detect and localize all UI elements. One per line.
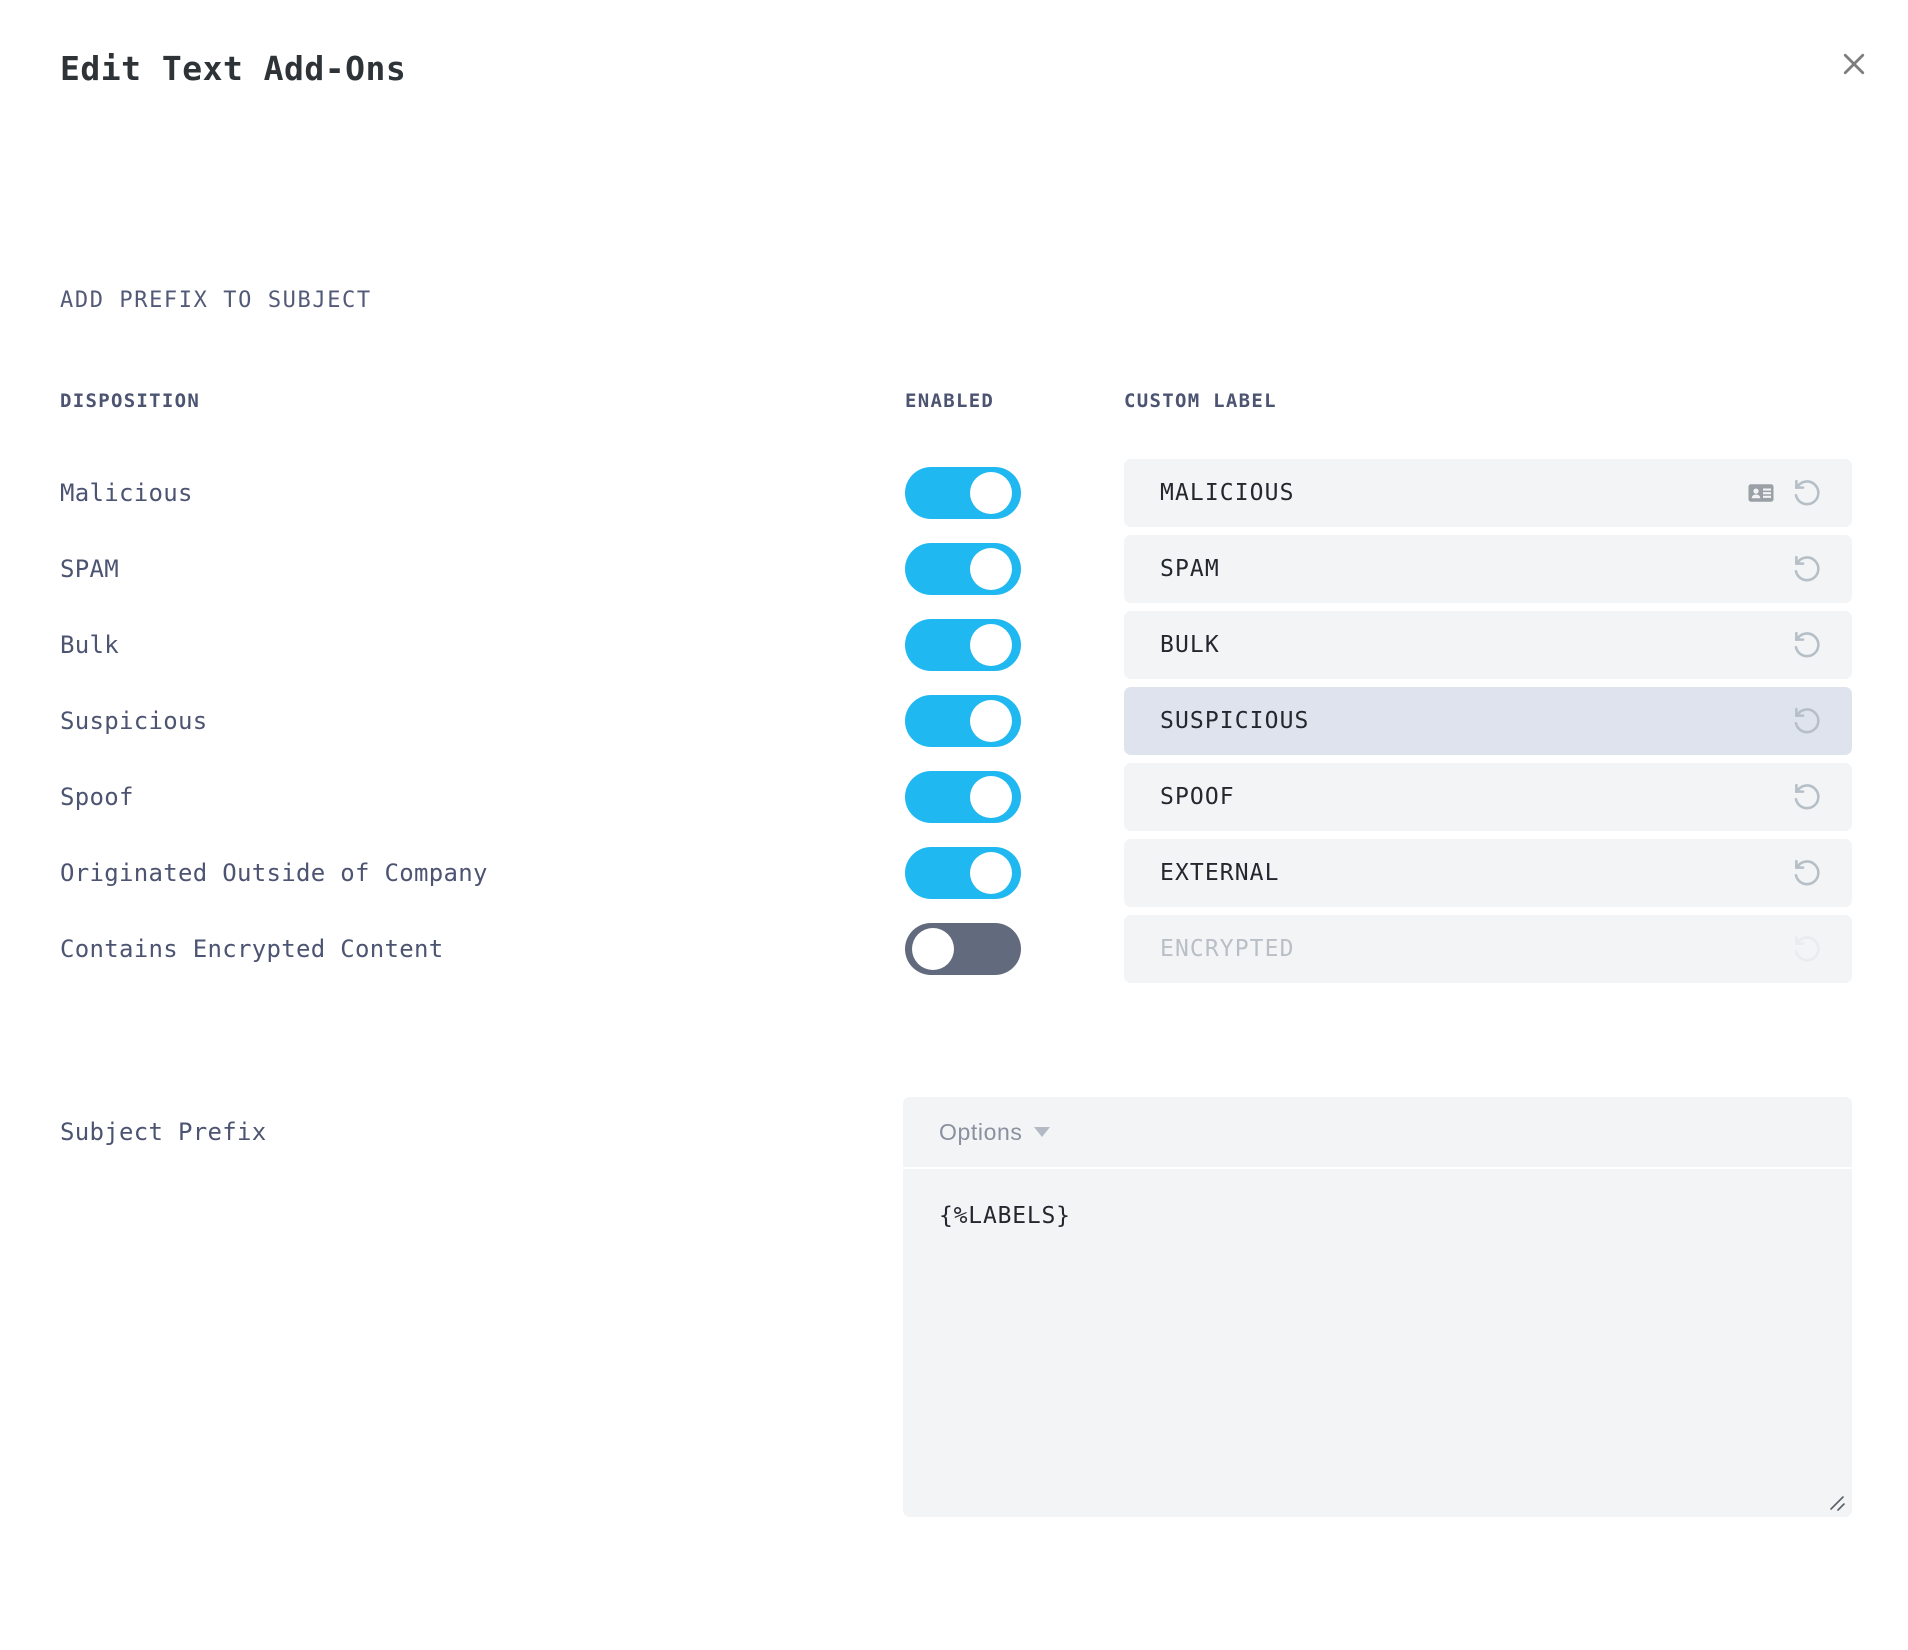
toggle-knob	[970, 548, 1012, 590]
subject-prefix-label: Subject Prefix	[60, 1118, 267, 1146]
table-row: MaliciousMALICIOUS	[0, 458, 1908, 528]
table-row: SpoofSPOOF	[0, 762, 1908, 832]
reset-undo-icon[interactable]	[1790, 856, 1824, 890]
custom-label-value: MALICIOUS	[1160, 480, 1746, 506]
disposition-label-spam: SPAM	[60, 555, 119, 583]
enabled-toggle-suspicious[interactable]	[905, 695, 1021, 747]
options-dropdown-label: Options	[939, 1119, 1022, 1146]
subject-prefix-textarea[interactable]: {%LABELS}	[903, 1167, 1852, 1517]
enabled-toggle-spoof[interactable]	[905, 771, 1021, 823]
enabled-toggle-external[interactable]	[905, 847, 1021, 899]
custom-label-input-spoof[interactable]: SPOOF	[1124, 763, 1852, 831]
table-row: SuspiciousSUSPICIOUS	[0, 686, 1908, 756]
enabled-toggle-bulk[interactable]	[905, 619, 1021, 671]
toggle-knob	[912, 928, 954, 970]
custom-label-input-spam[interactable]: SPAM	[1124, 535, 1852, 603]
custom-label-value: SPAM	[1160, 556, 1790, 582]
disposition-label-encrypted: Contains Encrypted Content	[60, 935, 443, 963]
close-icon	[1839, 49, 1869, 79]
reset-undo-icon[interactable]	[1790, 628, 1824, 662]
subject-prefix-value: {%LABELS}	[939, 1203, 1816, 1229]
input-icon-group	[1790, 628, 1836, 662]
toggle-knob	[970, 776, 1012, 818]
disposition-label-spoof: Spoof	[60, 783, 134, 811]
reset-undo-icon[interactable]	[1790, 704, 1824, 738]
disposition-label-suspicious: Suspicious	[60, 707, 208, 735]
table-row: Contains Encrypted ContentENCRYPTED	[0, 914, 1908, 984]
resize-handle-icon[interactable]	[1825, 1491, 1847, 1513]
reset-undo-icon[interactable]	[1790, 552, 1824, 586]
enabled-toggle-malicious[interactable]	[905, 467, 1021, 519]
toggle-knob	[970, 700, 1012, 742]
custom-label-value: ENCRYPTED	[1160, 936, 1790, 962]
custom-label-input-suspicious[interactable]: SUSPICIOUS	[1124, 687, 1852, 755]
reset-undo-icon[interactable]	[1790, 476, 1824, 510]
custom-label-input-malicious[interactable]: MALICIOUS	[1124, 459, 1852, 527]
input-icon-group	[1790, 552, 1836, 586]
custom-label-value: EXTERNAL	[1160, 860, 1790, 886]
toggle-knob	[970, 624, 1012, 666]
enabled-toggle-encrypted[interactable]	[905, 923, 1021, 975]
disposition-label-bulk: Bulk	[60, 631, 119, 659]
input-icon-group	[1790, 704, 1836, 738]
options-dropdown[interactable]: Options	[939, 1119, 1050, 1146]
column-header-enabled: ENABLED	[905, 390, 994, 412]
contact-card-icon[interactable]	[1746, 478, 1776, 508]
disposition-label-malicious: Malicious	[60, 479, 193, 507]
toggle-knob	[970, 852, 1012, 894]
custom-label-value: SUSPICIOUS	[1160, 708, 1790, 734]
disposition-label-external: Originated Outside of Company	[60, 859, 488, 887]
custom-label-input-external[interactable]: EXTERNAL	[1124, 839, 1852, 907]
column-header-custom-label: CUSTOM LABEL	[1124, 390, 1277, 412]
custom-label-value: SPOOF	[1160, 784, 1790, 810]
dialog-header: Edit Text Add-Ons	[60, 48, 1868, 108]
reset-undo-icon[interactable]	[1790, 780, 1824, 814]
table-row: SPAMSPAM	[0, 534, 1908, 604]
editor-toolbar: Options	[903, 1097, 1852, 1167]
section-label: ADD PREFIX TO SUBJECT	[60, 288, 372, 313]
enabled-toggle-spam[interactable]	[905, 543, 1021, 595]
input-icon-group	[1790, 932, 1836, 966]
column-header-disposition: DISPOSITION	[60, 390, 200, 412]
custom-label-input-encrypted: ENCRYPTED	[1124, 915, 1852, 983]
subject-prefix-editor: Options {%LABELS}	[903, 1097, 1852, 1517]
table-row: Originated Outside of CompanyEXTERNAL	[0, 838, 1908, 908]
page-title: Edit Text Add-Ons	[60, 48, 1868, 90]
close-button[interactable]	[1828, 38, 1880, 90]
input-icon-group	[1746, 476, 1836, 510]
input-icon-group	[1790, 856, 1836, 890]
reset-undo-icon	[1790, 932, 1824, 966]
custom-label-input-bulk[interactable]: BULK	[1124, 611, 1852, 679]
input-icon-group	[1790, 780, 1836, 814]
chevron-down-icon	[1034, 1127, 1050, 1137]
custom-label-value: BULK	[1160, 632, 1790, 658]
table-row: BulkBULK	[0, 610, 1908, 680]
edit-text-addons-dialog: Edit Text Add-Ons ADD PREFIX TO SUBJECT …	[0, 0, 1908, 1650]
toggle-knob	[970, 472, 1012, 514]
